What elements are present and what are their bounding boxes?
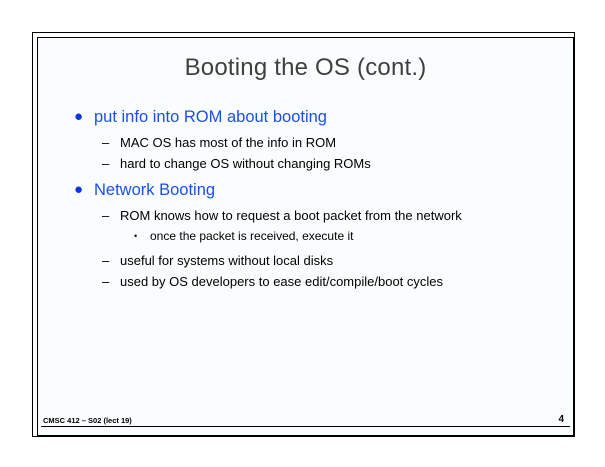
bullet-text: useful for systems without local disks <box>120 251 333 271</box>
bullet-text: hard to change OS without changing ROMs <box>120 154 371 174</box>
bullet-text: MAC OS has most of the info in ROM <box>120 133 336 153</box>
slide-frame: Booting the OS (cont.) ● put info into R… <box>32 32 575 437</box>
bullet-dash-icon: – <box>102 272 120 292</box>
bullet-text: used by OS developers to ease edit/compi… <box>120 272 443 292</box>
bullet-dash-icon: – <box>102 206 120 226</box>
bullet-list: ● put info into ROM about booting – MAC … <box>68 106 557 293</box>
bullet-text: Network Booting <box>94 179 215 201</box>
slide-canvas: Booting the OS (cont.) ● put info into R… <box>37 37 574 436</box>
bullet-item-level3: • once the packet is received, execute i… <box>68 227 557 246</box>
bullet-text: ROM knows how to request a boot packet f… <box>120 206 462 226</box>
bullet-item-level2: – ROM knows how to request a boot packet… <box>68 206 557 226</box>
bullet-dash-icon: – <box>102 251 120 271</box>
bullet-text: once the packet is received, execute it <box>150 227 353 246</box>
bullet-item-level2: – MAC OS has most of the info in ROM <box>68 133 557 153</box>
bullet-item-level2: – hard to change OS without changing ROM… <box>68 154 557 174</box>
bullet-item-level2: – useful for systems without local disks <box>68 251 557 271</box>
footer-divider <box>41 426 570 427</box>
page-title: Booting the OS (cont.) <box>38 54 573 82</box>
bullet-item-level1: ● Network Booting <box>68 179 557 201</box>
bullet-text: put info into ROM about booting <box>94 106 327 128</box>
footer-course-label: CMSC 412 – S02 (lect 19) <box>43 416 132 425</box>
bullet-dash-icon: – <box>102 133 120 153</box>
bullet-dot-icon: • <box>134 227 150 246</box>
bullet-disc-icon: ● <box>74 179 94 201</box>
bullet-item-level2: – used by OS developers to ease edit/com… <box>68 272 557 292</box>
bullet-item-level1: ● put info into ROM about booting <box>68 106 557 128</box>
bullet-disc-icon: ● <box>74 106 94 128</box>
bullet-dash-icon: – <box>102 154 120 174</box>
page-number: 4 <box>558 414 564 425</box>
slide-footer: CMSC 412 – S02 (lect 19) 4 <box>41 411 570 427</box>
